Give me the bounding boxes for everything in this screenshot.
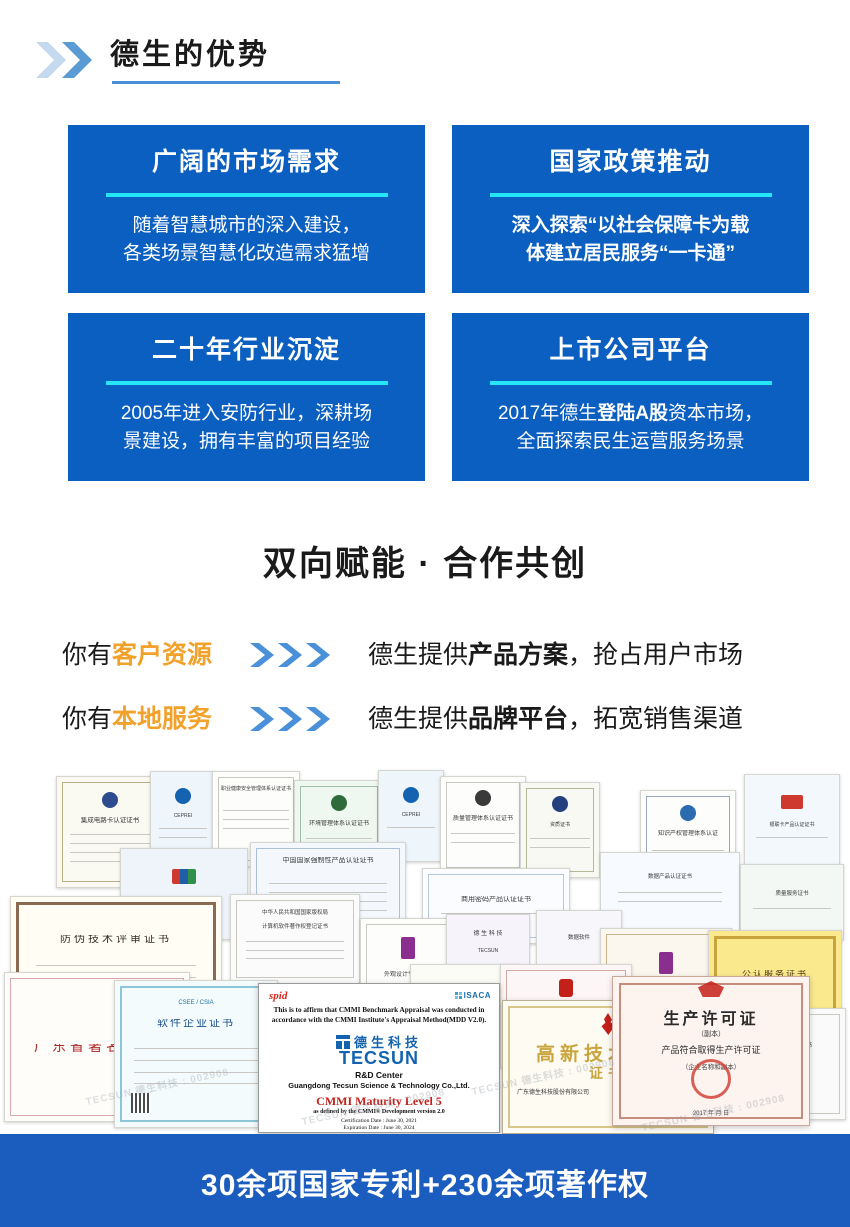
synergy-left-highlight: 本地服务 (112, 705, 212, 733)
advantage-card-grid: 广阔的市场需求 随着智慧城市的深入建设， 各类场景智慧化改造需求猛增 国家政策推… (0, 125, 850, 475)
synergy-right-emphasis: 产品方案 (468, 641, 568, 669)
hightech-company-label: 广东德生科技股份有限公司 (517, 1089, 589, 1098)
patent-emblem-icon (659, 952, 673, 974)
title-underline (112, 81, 340, 84)
page-title: 德生的优势 (110, 32, 270, 78)
cert-caption: 德 生 科 技 (447, 930, 529, 938)
card-title: 二十年行业沉淀 (84, 335, 409, 365)
cmmi-expiration-date: Expiration Date : June 30, 2024 (259, 1125, 499, 1132)
cert-caption: CSEE / CSIA (115, 999, 277, 1007)
footer-banner: 30余项国家专利+230余项著作权 (0, 1134, 850, 1227)
production-license-certificate: 生产许可证 （副本） 产品符合取得生产许可证 （企业名称和副本） 2017 年 … (612, 976, 810, 1126)
card-body: 2017年德生登陆A股资本市场， 全面探索民生运营服务场景 (468, 400, 793, 456)
cvc-emblem-icon (331, 795, 347, 811)
cert-caption: 集成电路卡认证证书 (57, 817, 163, 825)
triple-chevron-right-icon (248, 696, 338, 742)
cmmi-affirmation-line: This is to affirm that CMMI Benchmark Ap… (267, 1006, 491, 1016)
card-divider (490, 381, 772, 385)
cmmi-rnd-center: R&D Center (259, 1070, 499, 1080)
card-body-line: 2017年德生登陆A股资本市场， (468, 400, 793, 428)
card-title: 广阔的市场需求 (84, 147, 409, 177)
license-subtitle: （副本） (613, 1029, 809, 1039)
cert-caption: 数据产品认证证书 (601, 873, 739, 881)
cert-emblem-icon (781, 795, 803, 809)
patent-emblem-icon (401, 937, 415, 959)
isaca-label: ISACA (464, 991, 491, 1000)
card-body-line: 全面探索民生运营服务场景 (468, 428, 793, 456)
section-header: 德生的优势 (0, 34, 850, 94)
cmmi-maturity-level: CMMI Maturity Level 5 (259, 1094, 499, 1109)
cmmi-affirmation: This is to affirm that CMMI Benchmark Ap… (267, 1006, 491, 1025)
cert-emblem-icon (175, 788, 191, 804)
synergy-right-prefix: 德生提供 (368, 705, 468, 733)
certificate-thumb: CSEE / CSIA 软件企业证书 (114, 980, 278, 1128)
synergy-row-list: 你有客户资源 德生提供产品方案，抢占用户市场 你有本地服务 德生提供品牌平台，拓… (0, 632, 850, 752)
card-divider (106, 381, 388, 385)
card-body-line: 2005年进入安防行业，深耕场 (84, 400, 409, 428)
card-body-emphasis: 登陆A股 (597, 403, 668, 424)
tecsun-logo-icon (336, 1035, 350, 1049)
cert-caption: 商用密码产品认证证书 (423, 896, 569, 904)
cert-emblem-icon (680, 805, 696, 821)
chevron-right-dark-icon (60, 40, 94, 80)
unionpay-icon (172, 869, 196, 884)
card-body-line: 景建设，拥有丰富的项目经验 (84, 428, 409, 456)
cmmi-company-name: Guangdong Tecsun Science & Technology Co… (259, 1081, 499, 1090)
card-body-line: 深入探索“以社会保障卡为载 (468, 212, 793, 240)
certificate-thumb: 资质证书 (520, 782, 600, 878)
card-body: 随着智慧城市的深入建设， 各类场景智慧化改造需求猛增 (84, 212, 409, 268)
certificate-collage: 集成电路卡认证证书 CEPREI 职业健康安全管理体系认证证书 环境管理体系认证… (0, 768, 850, 1134)
red-seal-icon (691, 1059, 731, 1099)
cert-caption: 知识产权管理体系认证 (641, 830, 735, 838)
synergy-left-prefix: 你有 (62, 641, 112, 669)
isaca-mark-icon (455, 992, 462, 999)
synergy-left-highlight: 客户资源 (112, 641, 212, 669)
spid-logo: spid (269, 990, 287, 1002)
card-title: 国家政策推动 (468, 147, 793, 177)
advantage-card-market-demand: 广阔的市场需求 随着智慧城市的深入建设， 各类场景智慧化改造需求猛增 (68, 125, 425, 293)
cmmi-defined-by: as defined by the CMMI® Development vers… (259, 1109, 499, 1115)
synergy-right-emphasis: 品牌平台 (468, 705, 568, 733)
advantage-card-industry-experience: 二十年行业沉淀 2005年进入安防行业，深耕场 景建设，拥有丰富的项目经验 (68, 313, 425, 481)
cert-caption: 中华人民共和国国家版权局 (231, 909, 359, 917)
cmmi-certification-date: Certification Date : June 30, 2021 (259, 1118, 499, 1125)
card-body-line: 各类场景智慧化改造需求猛增 (84, 240, 409, 268)
advantage-card-listed-company: 上市公司平台 2017年德生登陆A股资本市场， 全面探索民生运营服务场景 (452, 313, 809, 481)
synergy-right-suffix: ，抢占用户市场 (568, 641, 743, 669)
synergy-right-prefix: 德生提供 (368, 641, 468, 669)
cert-caption: 职业健康安全管理体系认证证书 (213, 785, 299, 793)
certificate-thumb: 中华人民共和国国家版权局 计算机软件著作权登记证书 (230, 894, 360, 984)
card-body: 深入探索“以社会保障卡为载 体建立居民服务“一卡通” (468, 212, 793, 268)
cert-caption: 质量管理体系认证证书 (441, 815, 525, 823)
synergy-row: 你有本地服务 德生提供品牌平台，拓宽销售渠道 (0, 696, 850, 752)
synergy-right-text: 德生提供产品方案，抢占用户市场 (368, 632, 743, 678)
cert-emblem-icon (102, 792, 118, 808)
license-date: 2017 年 月 日 (625, 1108, 797, 1117)
cmmi-certificate: spid ISACA This is to affirm that CMMI B… (258, 983, 500, 1133)
card-body-text: 2017年德生 (498, 403, 597, 424)
cert-caption: CEPREI (379, 811, 443, 819)
triple-chevron-right-icon (248, 632, 338, 678)
cert-caption: TECSUN (447, 947, 529, 955)
card-body-line: 体建立居民服务“一卡通” (468, 240, 793, 268)
synergy-section-title: 双向赋能 · 合作共创 (0, 541, 850, 587)
cmmi-dates: Certification Date : June 30, 2021 Expir… (259, 1118, 499, 1132)
card-divider (490, 193, 772, 197)
cert-caption: 银联卡产品认证证书 (745, 821, 839, 829)
synergy-left-prefix: 你有 (62, 705, 112, 733)
synergy-right-suffix: ，拓宽销售渠道 (568, 705, 743, 733)
card-title: 上市公司平台 (468, 335, 793, 365)
cert-emblem-icon (552, 796, 568, 812)
license-title: 生产许可证 (613, 1005, 809, 1029)
certificate-thumb: 质量管理体系认证证书 (440, 776, 526, 874)
flame-emblem-icon (559, 979, 573, 997)
cert-caption: 质量服务证书 (741, 890, 843, 898)
synergy-right-text: 德生提供品牌平台，拓宽销售渠道 (368, 696, 743, 742)
synergy-row: 你有客户资源 德生提供产品方案，抢占用户市场 (0, 632, 850, 688)
qr-code-icon (131, 1093, 151, 1113)
cert-caption: 软件企业证书 (115, 1019, 277, 1027)
cmmi-affirmation-line: accordance with the CMMI Institute's App… (267, 1016, 491, 1026)
card-divider (106, 193, 388, 197)
cert-caption: 计算机软件著作权登记证书 (231, 923, 359, 931)
cert-caption: 环境管理体系认证证书 (295, 820, 383, 828)
isaca-logo: ISACA (455, 991, 491, 1000)
chevron-group (34, 40, 108, 80)
synergy-left-text: 你有本地服务 (62, 696, 212, 742)
tecsun-brand-en: TECSUN (259, 1048, 499, 1069)
cvc-emblem-icon (475, 790, 491, 806)
cert-caption: CEPREI (151, 812, 215, 820)
license-line: 产品符合取得生产许可证 (613, 1043, 809, 1056)
cert-caption: 中国国家强制性产品认证证书 (251, 857, 405, 865)
certificate-thumb: 质量服务证书 (740, 864, 844, 940)
cert-caption: 资质证书 (521, 821, 599, 829)
cert-caption: 防伪技术评审证书 (11, 935, 221, 943)
synergy-left-text: 你有客户资源 (62, 632, 212, 678)
certificate-thumb: 银联卡产品认证证书 (744, 774, 840, 876)
card-body-line: 随着智慧城市的深入建设， (84, 212, 409, 240)
card-body: 2005年进入安防行业，深耕场 景建设，拥有丰富的项目经验 (84, 400, 409, 456)
card-body-text: 资本市场， (668, 403, 763, 424)
cert-emblem-icon (403, 787, 419, 803)
advantage-card-national-policy: 国家政策推动 深入探索“以社会保障卡为载 体建立居民服务“一卡通” (452, 125, 809, 293)
footer-banner-text: 30余项国家专利+230余项著作权 (0, 1160, 850, 1204)
